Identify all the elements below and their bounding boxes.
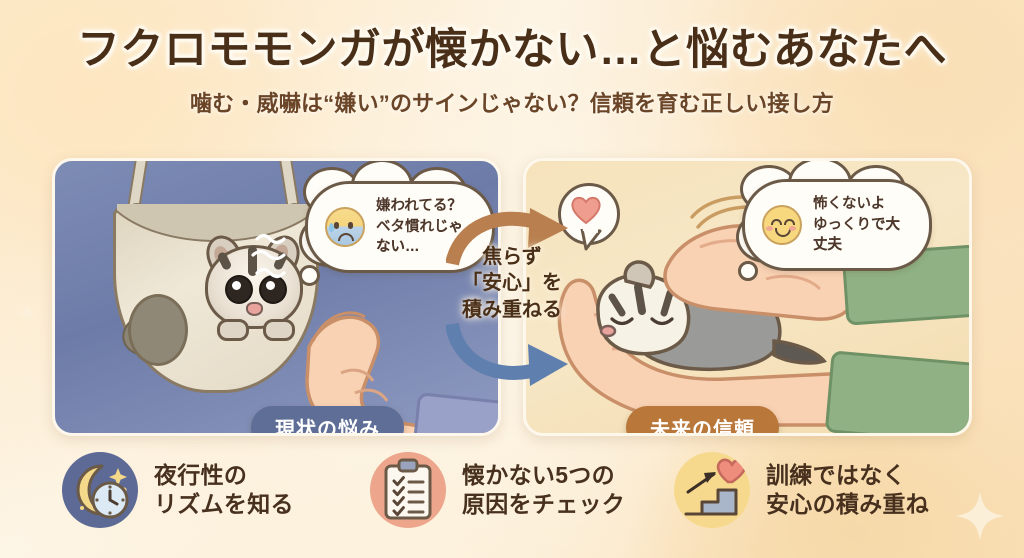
glider-stripe-left bbox=[217, 251, 233, 271]
glider-nose bbox=[246, 302, 263, 316]
feature-label-2: 懐かない5つの 原因をチェック bbox=[462, 461, 625, 520]
glider-paw-left bbox=[217, 319, 249, 341]
thought-dot-right bbox=[738, 261, 758, 281]
feature-label-3: 訓練ではなく 安心の積み重ね bbox=[766, 461, 929, 520]
pouch-opening bbox=[128, 294, 188, 366]
feature-label-1: 夜行性の リズムを知る bbox=[154, 461, 294, 520]
thought-dot-left bbox=[299, 265, 320, 286]
infographic-canvas: フクロモモンガが懐かない…と悩むあなたへ 噛む・威嚇は“嫌い”のサインじゃない？… bbox=[0, 0, 1024, 558]
smiling-face-icon-top bbox=[762, 205, 802, 245]
panel-current-problem: 嫌われてる？ ベタ慣れじゃない… 嫌われてる？ ベタ慣れじゃない… 現状の悩み bbox=[52, 158, 501, 436]
feature-item-trust: 訓練ではなく 安心の積み重ね bbox=[674, 452, 929, 528]
feature-list: 夜行性の リズムを知る 懐かない5つの 原因をチェック bbox=[0, 452, 1024, 556]
transition-text: 焦らず 「安心」を 積み重ねる bbox=[460, 244, 564, 323]
heart-bubble-tail bbox=[580, 229, 604, 253]
transition-arrows: 焦らず 「安心」を 積み重ねる bbox=[460, 158, 564, 430]
page-title: フクロモモンガが懐かない…と悩むあなたへ bbox=[0, 26, 1024, 74]
badge-current-problem: 現状の悩み bbox=[251, 406, 404, 436]
clipboard-checklist-icon bbox=[370, 452, 446, 528]
feature-icon-circle-3 bbox=[674, 452, 750, 528]
feature-item-causes: 懐かない5つの 原因をチェック bbox=[370, 452, 625, 528]
moon-clock-icon bbox=[62, 452, 138, 528]
thought-bubble-right-text-top: 怖くないよ ゆっくりで大丈夫 bbox=[813, 194, 912, 256]
panel-future-trust: 怖くないよ ゆっくりで大丈夫 怖くないよ ゆっくりで大丈夫 未来の信頼 bbox=[523, 158, 972, 436]
page-subtitle: 噛む・威嚇は“嫌い”のサインじゃない？信頼を育む正しい接し方 bbox=[0, 86, 1024, 118]
feature-icon-circle-1 bbox=[62, 452, 138, 528]
worried-sweat-face-icon-top bbox=[325, 207, 365, 247]
thought-bubble-right-content: 怖くないよ ゆっくりで大丈夫 bbox=[742, 179, 932, 271]
stairs-arrow-heart-icon bbox=[674, 452, 750, 528]
header: フクロモモンガが懐かない…と悩むあなたへ 噛む・威嚇は“嫌い”のサインじゃない？… bbox=[0, 26, 1024, 118]
nervous-squiggle-icon bbox=[249, 229, 297, 285]
glider-paw-right bbox=[263, 319, 295, 341]
badge-future-trust: 未来の信頼 bbox=[626, 406, 779, 436]
sleeve-lower-right bbox=[825, 350, 972, 436]
feature-icon-circle-2 bbox=[370, 452, 446, 528]
feature-item-nocturnal: 夜行性の リズムを知る bbox=[62, 452, 294, 528]
